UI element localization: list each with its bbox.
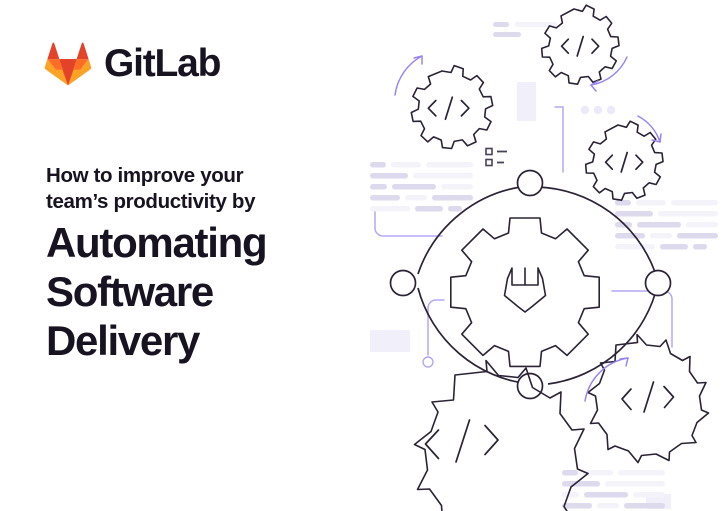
panel-rect-top [517,82,536,121]
gitlab-wordmark: GitLab [104,44,220,83]
orbit-node-top [518,171,543,196]
orbit-node-bottom [518,374,543,399]
panel-rect-left [370,330,410,352]
automation-gears-illustration [350,0,726,511]
arc-arrow-top-left [395,56,422,95]
code-block-right [615,200,718,250]
orbit-node-left [391,271,416,296]
gear-right [586,121,663,200]
gear-bottom-right [588,335,709,463]
connector-left-top [375,212,442,236]
window-dots [581,106,615,114]
orbit-node-right [646,271,671,296]
cover-page: GitLab How to improve your team’s produc… [0,0,726,511]
checklist-icon [486,149,507,166]
gitlab-brand-lockup: GitLab [44,40,220,86]
connector-right-bottom [612,291,672,347]
arc-arrow-right [638,116,660,142]
code-block-left [370,162,473,212]
cover-kicker: How to improve your team’s productivity … [46,163,336,215]
gitlab-tanuki-icon [44,40,92,86]
title-panel: GitLab How to improve your team’s produc… [0,0,350,511]
gear-top-right [542,5,619,84]
connector-right-top [555,107,563,172]
page-title: Automating Software Delivery [46,218,346,365]
gear-top-left [411,66,492,149]
gear-bottom-left [415,361,589,511]
